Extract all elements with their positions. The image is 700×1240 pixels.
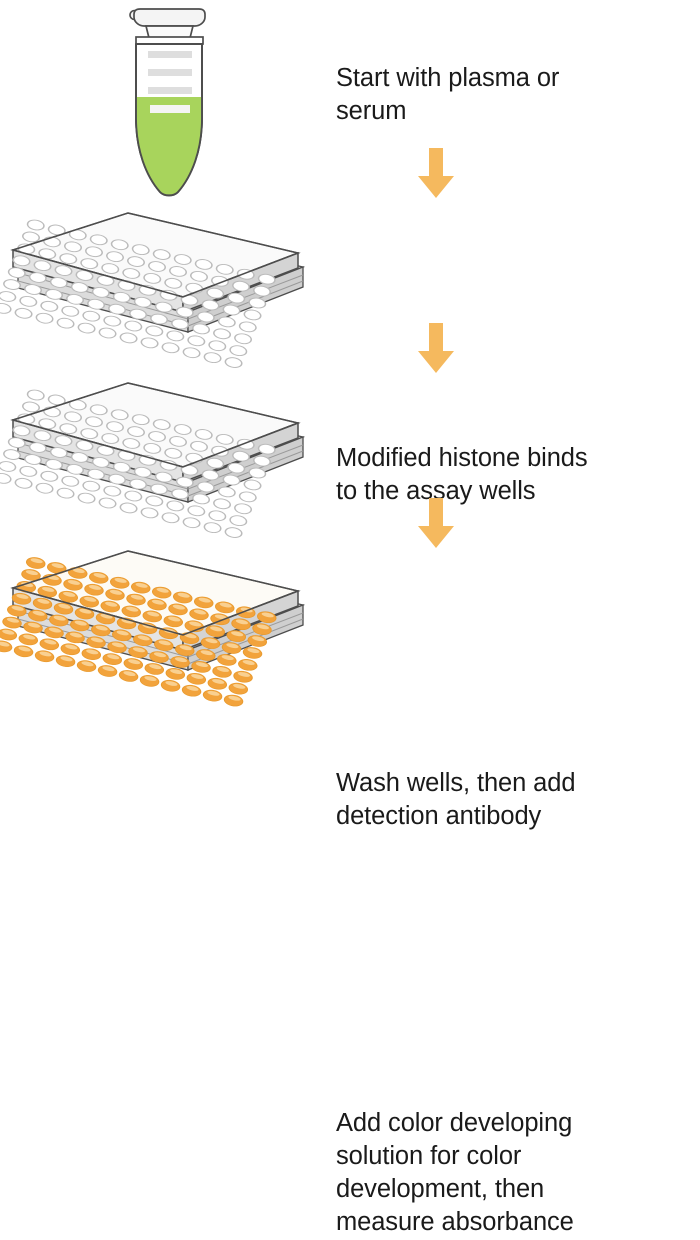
elisa-workflow-diagram: Start with plasma or serum — [0, 0, 700, 714]
tube-body — [130, 44, 210, 207]
microplate-graphic — [0, 551, 303, 708]
microplate-empty — [0, 205, 336, 380]
sample-tube — [0, 0, 336, 205]
workflow-step-1: Start with plasma or serum — [0, 0, 700, 205]
flow-arrow-2 — [414, 323, 458, 373]
microplate-graphic — [0, 213, 303, 369]
flow-arrow-1 — [414, 148, 458, 198]
step-4-caption: Add color developing solution for color … — [336, 1107, 574, 1240]
step-3-caption: Wash wells, then add detection antibody — [336, 767, 575, 833]
workflow-step-3: Wash wells, then add detection antibody — [0, 380, 700, 545]
tube-cap-icon — [134, 9, 205, 44]
workflow-step-2: Modified histone binds to the assay well… — [0, 205, 700, 380]
microplate-washed — [0, 380, 336, 545]
step-1-caption: Start with plasma or serum — [336, 62, 559, 128]
workflow-step-4: Add color developing solution for color … — [0, 545, 700, 714]
microplate-developed — [0, 545, 336, 714]
flow-arrow-3 — [414, 498, 458, 548]
microplate-graphic — [0, 383, 303, 539]
